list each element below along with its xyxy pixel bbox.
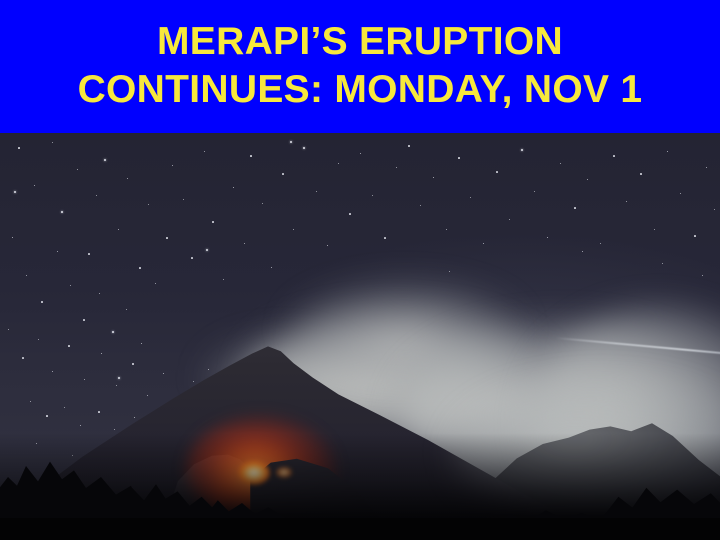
star	[680, 193, 681, 194]
star	[293, 229, 294, 230]
star	[134, 417, 135, 418]
star	[433, 177, 434, 178]
star	[372, 195, 373, 196]
star	[204, 151, 205, 152]
volcano-photo	[0, 133, 720, 540]
star	[244, 243, 245, 244]
star	[694, 235, 696, 237]
star	[132, 363, 134, 365]
star	[626, 201, 627, 202]
star	[127, 178, 128, 179]
star	[360, 153, 361, 154]
star	[654, 229, 655, 230]
star	[96, 195, 97, 196]
star	[98, 411, 100, 413]
photo-bottom-edge	[0, 518, 720, 540]
star	[139, 267, 141, 269]
star	[547, 237, 548, 238]
star	[613, 155, 615, 157]
star	[64, 407, 65, 408]
star	[141, 343, 142, 344]
star	[327, 245, 328, 246]
title-line-1: MERAPI’S ERUPTION	[0, 22, 720, 61]
star	[99, 293, 100, 294]
star	[183, 199, 184, 200]
star	[458, 157, 460, 159]
star	[112, 331, 114, 333]
star	[191, 257, 193, 259]
star	[83, 319, 85, 321]
star	[706, 167, 707, 168]
star	[714, 209, 715, 210]
star	[70, 285, 71, 286]
star	[57, 251, 58, 252]
star	[163, 373, 164, 374]
star	[349, 213, 351, 215]
star	[118, 229, 119, 230]
star	[114, 429, 115, 430]
star	[271, 267, 272, 268]
star	[52, 142, 53, 143]
star	[41, 301, 43, 303]
star	[262, 203, 263, 204]
star	[118, 377, 120, 379]
star	[582, 251, 583, 252]
title-line-2: CONTINUES: MONDAY, NOV 1	[0, 70, 720, 109]
star	[470, 197, 471, 198]
star	[250, 155, 252, 157]
star	[68, 345, 70, 347]
star	[223, 279, 224, 280]
star	[496, 171, 498, 173]
star	[38, 339, 39, 340]
star	[80, 425, 81, 426]
star	[509, 219, 510, 220]
slide: MERAPI’S ERUPTION CONTINUES: MONDAY, NOV…	[0, 0, 720, 540]
star	[30, 401, 31, 402]
star	[34, 185, 35, 186]
star	[303, 147, 305, 149]
star	[88, 253, 90, 255]
star	[449, 271, 450, 272]
star	[12, 237, 13, 238]
star	[521, 149, 523, 151]
star	[166, 237, 168, 239]
star	[640, 173, 642, 175]
star	[155, 283, 156, 284]
star	[14, 191, 16, 193]
star	[126, 309, 127, 310]
star	[420, 205, 421, 206]
star	[384, 237, 386, 239]
star	[560, 163, 561, 164]
star	[534, 191, 535, 192]
star	[282, 173, 284, 175]
star	[193, 381, 194, 382]
star	[18, 147, 20, 149]
star	[483, 243, 484, 244]
star	[26, 275, 27, 276]
star	[408, 145, 410, 147]
star	[206, 249, 208, 251]
star	[84, 379, 85, 380]
star	[77, 169, 78, 170]
star	[148, 204, 149, 205]
star	[600, 243, 601, 244]
star	[22, 357, 24, 359]
star	[46, 415, 48, 417]
star	[116, 385, 117, 386]
star	[233, 187, 234, 188]
star	[290, 141, 292, 143]
star	[574, 207, 576, 209]
star	[667, 151, 668, 152]
star	[662, 263, 663, 264]
star	[101, 353, 102, 354]
star	[8, 329, 9, 330]
star	[61, 211, 63, 213]
star	[104, 159, 106, 161]
star	[52, 371, 53, 372]
star	[587, 179, 588, 180]
star	[147, 395, 148, 396]
star	[212, 221, 214, 223]
star	[702, 275, 703, 276]
star	[338, 163, 339, 164]
star	[396, 167, 397, 168]
star	[172, 165, 173, 166]
title-banner: MERAPI’S ERUPTION CONTINUES: MONDAY, NOV…	[0, 0, 720, 133]
star	[446, 229, 447, 230]
star	[316, 191, 317, 192]
